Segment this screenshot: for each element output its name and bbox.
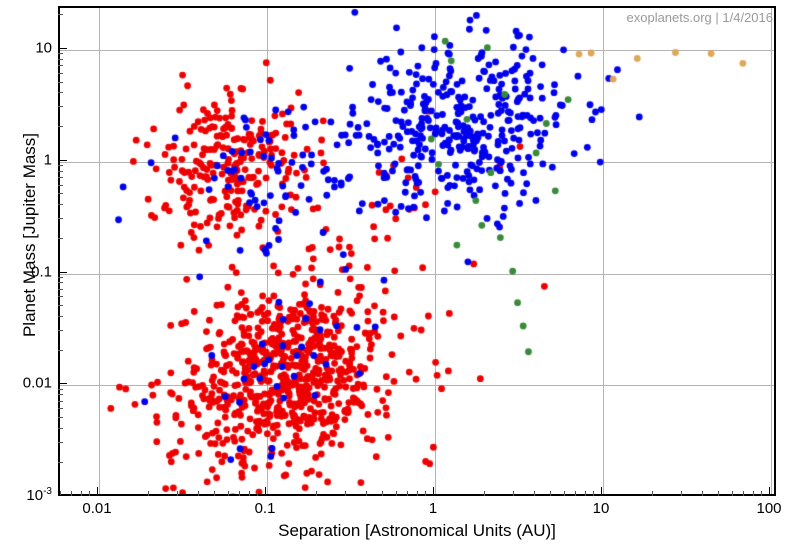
y-tick-minor bbox=[58, 428, 63, 429]
x-tick-minor bbox=[198, 491, 199, 496]
y-tick-label-mantissa: 10 bbox=[26, 487, 43, 504]
y-tick-minor bbox=[58, 389, 63, 390]
x-tick-minor bbox=[575, 491, 576, 496]
y-tick-minor bbox=[58, 204, 63, 205]
x-tick-minor bbox=[425, 491, 426, 496]
y-tick-minor bbox=[58, 277, 63, 278]
x-tick-minor bbox=[718, 491, 719, 496]
x-axis-title: Separation [Astronomical Units (AU)] bbox=[58, 521, 776, 541]
x-tick-label: 100 bbox=[756, 500, 781, 517]
x-tick-minor bbox=[366, 491, 367, 496]
y-tick-minor bbox=[58, 462, 63, 463]
x-tick-major bbox=[601, 487, 602, 496]
x-tick-minor bbox=[732, 491, 733, 496]
x-tick-minor bbox=[148, 491, 149, 496]
y-tick-minor bbox=[58, 73, 63, 74]
x-tick-minor bbox=[550, 491, 551, 496]
x-tick-minor bbox=[71, 491, 72, 496]
x-tick-minor bbox=[585, 491, 586, 496]
y-tick-major bbox=[58, 272, 67, 273]
y-tick-minor bbox=[58, 408, 63, 409]
y-tick-minor bbox=[58, 316, 63, 317]
x-tick-minor bbox=[761, 491, 762, 496]
x-tick-minor bbox=[228, 491, 229, 496]
scatter-data-canvas bbox=[60, 8, 776, 496]
y-tick-minor bbox=[58, 53, 63, 54]
y-tick-major bbox=[58, 495, 67, 496]
x-tick-label: 0.01 bbox=[82, 500, 111, 517]
y-tick-minor bbox=[58, 282, 63, 283]
x-tick-minor bbox=[593, 491, 594, 496]
x-tick-minor bbox=[177, 491, 178, 496]
y-tick-minor bbox=[58, 59, 63, 60]
x-tick-label: 0.1 bbox=[255, 500, 276, 517]
y-tick-minor bbox=[58, 417, 63, 418]
y-tick-major bbox=[58, 383, 67, 384]
x-tick-minor bbox=[257, 491, 258, 496]
y-tick-minor bbox=[58, 171, 63, 172]
y-tick-minor bbox=[58, 394, 63, 395]
y-tick-minor bbox=[58, 296, 63, 297]
y-tick-minor bbox=[58, 82, 63, 83]
x-tick-major bbox=[97, 487, 98, 496]
y-tick-minor bbox=[58, 126, 63, 127]
x-tick-minor bbox=[702, 491, 703, 496]
x-tick-minor bbox=[417, 491, 418, 496]
y-tick-minor bbox=[58, 350, 63, 351]
x-tick-minor bbox=[81, 491, 82, 496]
x-tick-minor bbox=[214, 491, 215, 496]
x-tick-minor bbox=[89, 491, 90, 496]
x-tick-minor bbox=[382, 491, 383, 496]
x-tick-minor bbox=[316, 491, 317, 496]
x-tick-major bbox=[433, 487, 434, 496]
y-tick-minor bbox=[58, 193, 63, 194]
y-tick-label: 10-3 bbox=[0, 486, 52, 504]
x-tick-minor bbox=[513, 491, 514, 496]
x-tick-minor bbox=[249, 491, 250, 496]
x-tick-minor bbox=[743, 491, 744, 496]
y-tick-minor bbox=[58, 330, 63, 331]
y-tick-minor bbox=[58, 238, 63, 239]
y-tick-label-exponent: -3 bbox=[43, 486, 52, 497]
y-tick-major bbox=[58, 48, 67, 49]
x-tick-minor bbox=[407, 491, 408, 496]
x-tick-minor bbox=[652, 491, 653, 496]
x-tick-minor bbox=[753, 491, 754, 496]
x-tick-minor bbox=[484, 491, 485, 496]
y-tick-minor bbox=[58, 289, 63, 290]
y-tick-minor bbox=[58, 218, 63, 219]
x-tick-minor bbox=[681, 491, 682, 496]
y-tick-minor bbox=[58, 305, 63, 306]
x-tick-minor bbox=[534, 491, 535, 496]
x-tick-label: 1 bbox=[429, 500, 437, 517]
y-tick-minor bbox=[58, 401, 63, 402]
y-tick-minor bbox=[58, 177, 63, 178]
y-tick-minor bbox=[58, 106, 63, 107]
plot-area bbox=[58, 6, 776, 496]
y-tick-minor bbox=[58, 65, 63, 66]
x-tick-minor bbox=[396, 491, 397, 496]
x-tick-label: 10 bbox=[593, 500, 610, 517]
watermark-credit: exoplanets.org | 1/4/2016 bbox=[627, 10, 774, 25]
y-tick-minor bbox=[58, 185, 63, 186]
y-tick-minor bbox=[58, 14, 63, 15]
x-tick-major bbox=[769, 487, 770, 496]
scatter-plot-figure: exoplanets.org | 1/4/2016 0.010.1110100 … bbox=[0, 0, 789, 546]
x-tick-major bbox=[265, 487, 266, 496]
y-tick-minor bbox=[58, 442, 63, 443]
y-tick-minor bbox=[58, 165, 63, 166]
x-tick-minor bbox=[345, 491, 346, 496]
y-tick-major bbox=[58, 160, 67, 161]
y-tick-minor bbox=[58, 92, 63, 93]
x-tick-minor bbox=[239, 491, 240, 496]
x-tick-minor bbox=[564, 491, 565, 496]
y-axis-title: Planet Mass [Jupiter Mass] bbox=[20, 0, 40, 470]
